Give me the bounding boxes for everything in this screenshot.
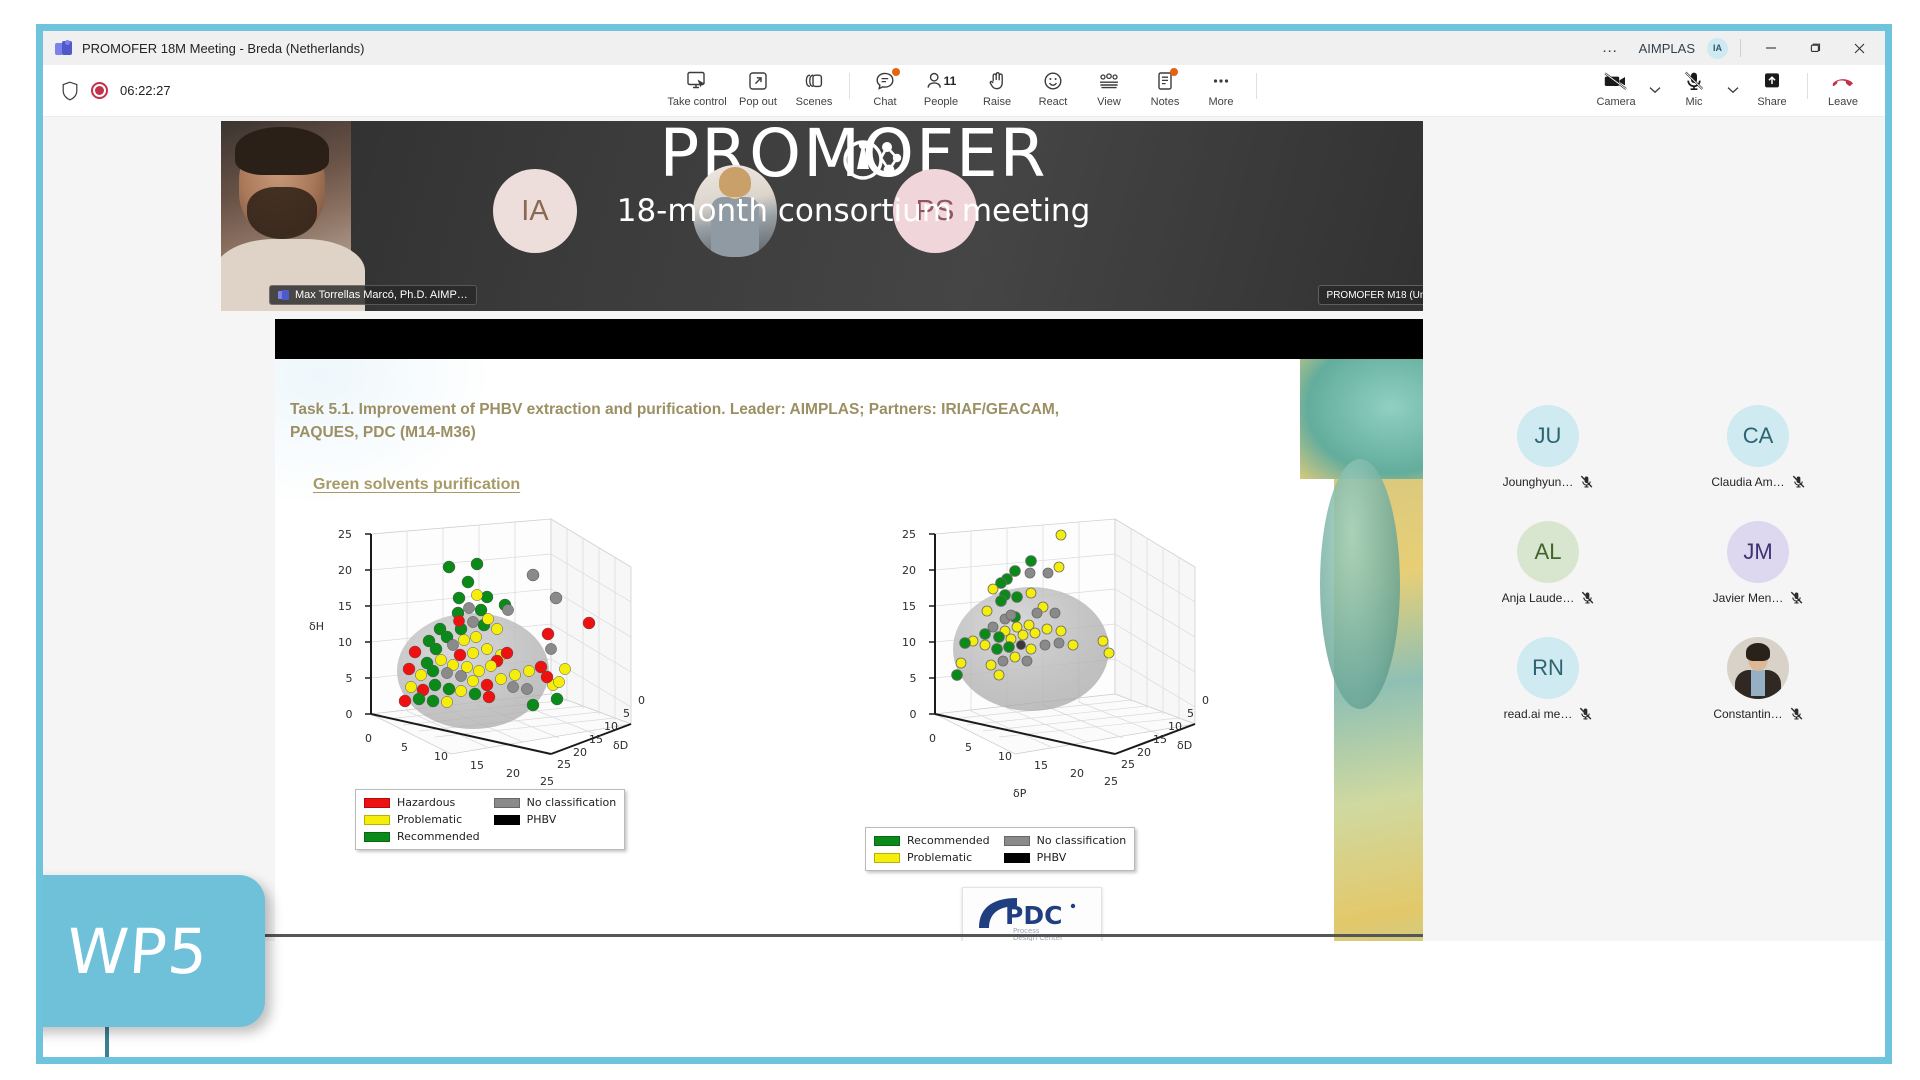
mic-muted-icon <box>1792 475 1805 489</box>
legend-swatch <box>364 798 390 808</box>
presentation-slide: Task 5.1. Improvement of PHBV extraction… <box>275 359 1430 984</box>
svg-text:25: 25 <box>557 758 571 771</box>
record-icon <box>91 82 108 99</box>
toolbar-people-button[interactable]: 11 People <box>913 65 969 115</box>
svg-text:10: 10 <box>338 636 352 649</box>
toolbar-pop-out-button[interactable]: Pop out <box>730 65 786 115</box>
toolbar-react-label: React <box>1039 96 1068 108</box>
toolbar-divider-1 <box>849 73 850 99</box>
svg-text:15: 15 <box>1034 759 1048 772</box>
svg-text:δD: δD <box>613 739 628 752</box>
toolbar-more-button[interactable]: More <box>1193 65 1249 115</box>
svg-text:PDC: PDC <box>1005 901 1062 930</box>
legend-swatch <box>494 815 520 825</box>
legend-swatch <box>364 832 390 842</box>
participant-meta: read.ai me… <box>1504 707 1593 721</box>
legend-swatch <box>874 836 900 846</box>
legend-right-chart: Recommended Problematic <box>865 827 1135 871</box>
toolbar-camera-button[interactable]: Camera <box>1588 65 1644 115</box>
svg-text:25: 25 <box>1121 758 1135 771</box>
svg-text:20: 20 <box>338 564 352 577</box>
toolbar-share-button[interactable]: Share <box>1744 65 1800 115</box>
svg-text:15: 15 <box>338 600 352 613</box>
mic-muted-icon <box>1579 707 1592 721</box>
avatar-photo <box>1727 637 1789 699</box>
share-icon <box>1761 69 1783 93</box>
participant-name: Jounghyun… <box>1503 475 1574 489</box>
svg-text:0: 0 <box>1202 694 1209 707</box>
svg-text:5: 5 <box>910 672 917 685</box>
svg-text:15: 15 <box>1153 733 1167 746</box>
svg-text:15: 15 <box>589 733 603 746</box>
avatar: CA <box>1727 405 1789 467</box>
titlebar-divider <box>1740 39 1741 57</box>
titlebar-right: … AIMPLAS IA <box>1590 31 1881 65</box>
legend-item: Recommended <box>364 829 480 844</box>
participant-tile-ju[interactable]: JU Jounghyun… <box>1443 405 1653 489</box>
teams-icon <box>55 41 72 56</box>
legend-item: Hazardous <box>364 795 480 810</box>
legend-label: PHBV <box>1037 851 1067 864</box>
camera-off-icon <box>1603 69 1629 93</box>
maximize-button[interactable] <box>1793 31 1837 65</box>
participant-tile-rn[interactable]: RN read.ai me… <box>1443 637 1653 721</box>
more-icon <box>1210 69 1232 93</box>
toolbar-leave-label: Leave <box>1828 96 1858 108</box>
svg-text:0: 0 <box>365 732 372 745</box>
svg-text:δD: δD <box>1177 739 1192 752</box>
people-count: 11 <box>944 74 957 88</box>
toolbar-camera-label: Camera <box>1596 96 1635 108</box>
legend-left-column-1: Hazardous Problematic Recommended <box>364 795 480 844</box>
avatar: AL <box>1517 521 1579 583</box>
mic-muted-icon <box>1580 475 1593 489</box>
toolbar-divider-2 <box>1256 73 1257 99</box>
active-speaker-name: Max Torrellas Marcó, Ph.D. AIMP… <box>295 289 468 301</box>
mic-muted-icon <box>1790 591 1803 605</box>
participants-panel: JU Jounghyun… <box>1423 117 1885 1029</box>
svg-text:5: 5 <box>965 741 972 754</box>
shield-icon[interactable] <box>61 81 79 101</box>
legend-swatch <box>494 798 520 808</box>
svg-text:25: 25 <box>902 528 916 541</box>
svg-text:15: 15 <box>470 759 484 772</box>
mic-muted-icon <box>1790 707 1803 721</box>
svg-text:10: 10 <box>434 750 448 763</box>
svg-text:20: 20 <box>573 746 587 759</box>
toolbar-center-group: Take control Pop out <box>664 65 1264 117</box>
participant-tile-ca[interactable]: CA Claudia Am… <box>1653 405 1863 489</box>
svg-text:5: 5 <box>1187 707 1194 720</box>
stage-bottom-rule <box>85 934 1480 937</box>
legend-swatch <box>874 853 900 863</box>
chart-hansen-space-all: 25 20 15 10 5 0 δH 0 5 <box>301 509 651 819</box>
participant-name: Constantin… <box>1713 707 1782 721</box>
legend-label: PHBV <box>527 813 557 826</box>
toolbar-share-label: Share <box>1757 96 1786 108</box>
toolbar-take-control-label: Take control <box>667 96 726 108</box>
legend-label: Problematic <box>397 813 462 826</box>
pop-out-icon <box>747 69 769 93</box>
svg-text:δP: δP <box>1013 787 1027 800</box>
svg-text:20: 20 <box>506 767 520 780</box>
legend-label: Problematic <box>907 851 972 864</box>
participants-grid: JU Jounghyun… <box>1443 405 1863 721</box>
legend-item: PHBV <box>1004 850 1127 865</box>
window-bottom-strip <box>43 941 1885 1057</box>
toolbar-chat-button[interactable]: Chat <box>857 65 913 115</box>
chat-icon <box>874 69 897 93</box>
slide-photo-fruit <box>1320 459 1400 709</box>
toolbar-view-label: View <box>1097 96 1121 108</box>
legend-swatch <box>1004 853 1030 863</box>
raise-hand-icon <box>987 69 1008 93</box>
account-avatar[interactable]: IA <box>1707 38 1728 59</box>
pdc-logo: PDC Process Design Center <box>962 887 1102 949</box>
react-icon <box>1042 69 1064 93</box>
legend-item: No classification <box>1004 833 1127 848</box>
svg-text:5: 5 <box>623 707 630 720</box>
participant-tile-constantin[interactable]: Constantin… <box>1653 637 1863 721</box>
legend-label: Hazardous <box>397 796 455 809</box>
notes-icon <box>1155 69 1175 93</box>
participant-meta: Constantin… <box>1713 707 1802 721</box>
people-icon: 11 <box>926 69 957 93</box>
toolbar-scenes-label: Scenes <box>796 96 833 108</box>
svg-text:0: 0 <box>346 708 353 721</box>
meeting-content: PROMOFER IA <box>43 117 1885 1057</box>
legend-right-column-2: No classification PHBV <box>1004 833 1127 865</box>
legend-label: Recommended <box>397 830 480 843</box>
toolbar-notes-label: Notes <box>1151 96 1180 108</box>
toolbar-chat-label: Chat <box>873 96 896 108</box>
mic-muted-icon <box>1581 591 1594 605</box>
participant-name: Claudia Am… <box>1711 475 1784 489</box>
legend-label: Recommended <box>907 834 990 847</box>
legend-item: PHBV <box>494 812 617 827</box>
titlebar-more-icon[interactable]: … <box>1590 31 1631 65</box>
minimize-button[interactable] <box>1749 31 1793 65</box>
notes-badge <box>1170 68 1178 76</box>
svg-text:15: 15 <box>902 600 916 613</box>
legend-swatch <box>364 815 390 825</box>
legend-item: Problematic <box>364 812 480 827</box>
promofer-molecule-icon <box>837 127 907 193</box>
meeting-timer: 06:22:27 <box>120 83 171 98</box>
chart-hansen-space-filtered: 25 20 15 10 5 0 0 5 10 <box>865 509 1215 819</box>
svg-text:10: 10 <box>902 636 916 649</box>
toolbar-more-label: More <box>1208 96 1233 108</box>
toolbar-mic-label: Mic <box>1685 96 1702 108</box>
participant-tile-jm[interactable]: JM Javier Men… <box>1653 521 1863 605</box>
hangup-icon <box>1830 69 1856 93</box>
legend-left-column-2: No classification PHBV <box>494 795 617 844</box>
svg-text:20: 20 <box>1137 746 1151 759</box>
close-button[interactable] <box>1837 31 1881 65</box>
participant-meta: Jounghyun… <box>1503 475 1594 489</box>
legend-item: Problematic <box>874 850 990 865</box>
svg-text:20: 20 <box>1070 767 1084 780</box>
slide-task-title: Task 5.1. Improvement of PHBV extraction… <box>290 399 1110 444</box>
toolbar-take-control-button[interactable]: Take control <box>664 65 730 115</box>
svg-text:10: 10 <box>604 720 618 733</box>
meeting-toolbar: 06:22:27 Take control <box>43 65 1885 117</box>
video-gallery-strip[interactable]: PROMOFER IA <box>221 121 1486 311</box>
titlebar-left: PROMOFER 18M Meeting - Breda (Netherland… <box>55 41 364 56</box>
toolbar-left-group: 06:22:27 <box>43 81 171 101</box>
svg-text:5: 5 <box>346 672 353 685</box>
screen-root: PROMOFER 18M Meeting - Breda (Netherland… <box>0 0 1920 1080</box>
svg-text:0: 0 <box>638 694 645 707</box>
shared-screen-area[interactable]: Task 5.1. Improvement of PHBV extraction… <box>275 319 1430 1025</box>
slide-section-heading: Green solvents purification <box>313 476 520 494</box>
toolbar-divider-3 <box>1807 73 1808 99</box>
wp5-watermark-tail <box>105 1025 109 1057</box>
legend-label: No classification <box>527 796 617 809</box>
screen-share-frame: PROMOFER 18M Meeting - Breda (Netherland… <box>36 24 1892 1064</box>
svg-text:δH: δH <box>309 620 324 633</box>
legend-right-column-1: Recommended Problematic <box>874 833 990 865</box>
camera-chevron-down-icon[interactable] <box>1644 65 1666 115</box>
svg-text:10: 10 <box>998 750 1012 763</box>
toolbar-raise-hand-button[interactable]: Raise <box>969 65 1025 115</box>
avatar: JU <box>1517 405 1579 467</box>
org-label: AIMPLAS <box>1631 41 1703 56</box>
legend-left-chart: Hazardous Problematic Recommended <box>355 789 625 850</box>
svg-text:20: 20 <box>902 564 916 577</box>
participant-meta: Claudia Am… <box>1711 475 1804 489</box>
toolbar-notes-button[interactable]: Notes <box>1137 65 1193 115</box>
svg-text:25: 25 <box>1104 775 1118 788</box>
meeting-stage: PROMOFER IA <box>45 117 1425 1029</box>
mic-off-icon <box>1683 69 1705 93</box>
svg-text:5: 5 <box>401 741 408 754</box>
participant-name: Anja Laude… <box>1502 591 1575 605</box>
wp5-watermark: WP5 <box>43 875 265 1027</box>
wp5-label: WP5 <box>64 915 210 988</box>
svg-text:25: 25 <box>540 775 554 788</box>
svg-text:10: 10 <box>1168 720 1182 733</box>
participant-meta: Anja Laude… <box>1502 591 1595 605</box>
window-title: PROMOFER 18M Meeting - Breda (Netherland… <box>82 41 364 56</box>
teams-mini-icon <box>278 290 289 300</box>
toolbar-react-button[interactable]: React <box>1025 65 1081 115</box>
toolbar-view-button[interactable]: View <box>1081 65 1137 115</box>
participant-tile-al[interactable]: AL Anja Laude… <box>1443 521 1653 605</box>
participant-name: Javier Men… <box>1713 591 1784 605</box>
svg-text:25: 25 <box>338 528 352 541</box>
toolbar-pop-out-label: Pop out <box>739 96 777 108</box>
toolbar-people-label: People <box>924 96 958 108</box>
mic-chevron-down-icon[interactable] <box>1722 65 1744 115</box>
active-speaker-chip: Max Torrellas Marcó, Ph.D. AIMP… <box>269 285 477 305</box>
avatar: RN <box>1517 637 1579 699</box>
legend-swatch <box>1004 836 1030 846</box>
take-control-icon <box>686 69 709 93</box>
toolbar-leave-button[interactable]: Leave <box>1815 65 1871 115</box>
legend-label: No classification <box>1037 834 1127 847</box>
participant-name: read.ai me… <box>1504 707 1573 721</box>
legend-item: No classification <box>494 795 617 810</box>
view-icon <box>1097 69 1121 93</box>
avatar: JM <box>1727 521 1789 583</box>
toolbar-right-group: Camera <box>1588 65 1871 117</box>
toolbar-raise-label: Raise <box>983 96 1011 108</box>
promofer-banner-subtitle: 18-month consortium meeting <box>221 193 1486 229</box>
svg-text:0: 0 <box>929 732 936 745</box>
scenes-icon <box>803 69 825 93</box>
participant-meta: Javier Men… <box>1713 591 1804 605</box>
toolbar-scenes-button[interactable]: Scenes <box>786 65 842 115</box>
svg-text:0: 0 <box>910 708 917 721</box>
chat-badge <box>892 68 900 76</box>
legend-item: Recommended <box>874 833 990 848</box>
teams-meeting-window: PROMOFER 18M Meeting - Breda (Netherland… <box>43 31 1885 1057</box>
toolbar-mic-button[interactable]: Mic <box>1666 65 1722 115</box>
window-titlebar: PROMOFER 18M Meeting - Breda (Netherland… <box>43 31 1885 65</box>
